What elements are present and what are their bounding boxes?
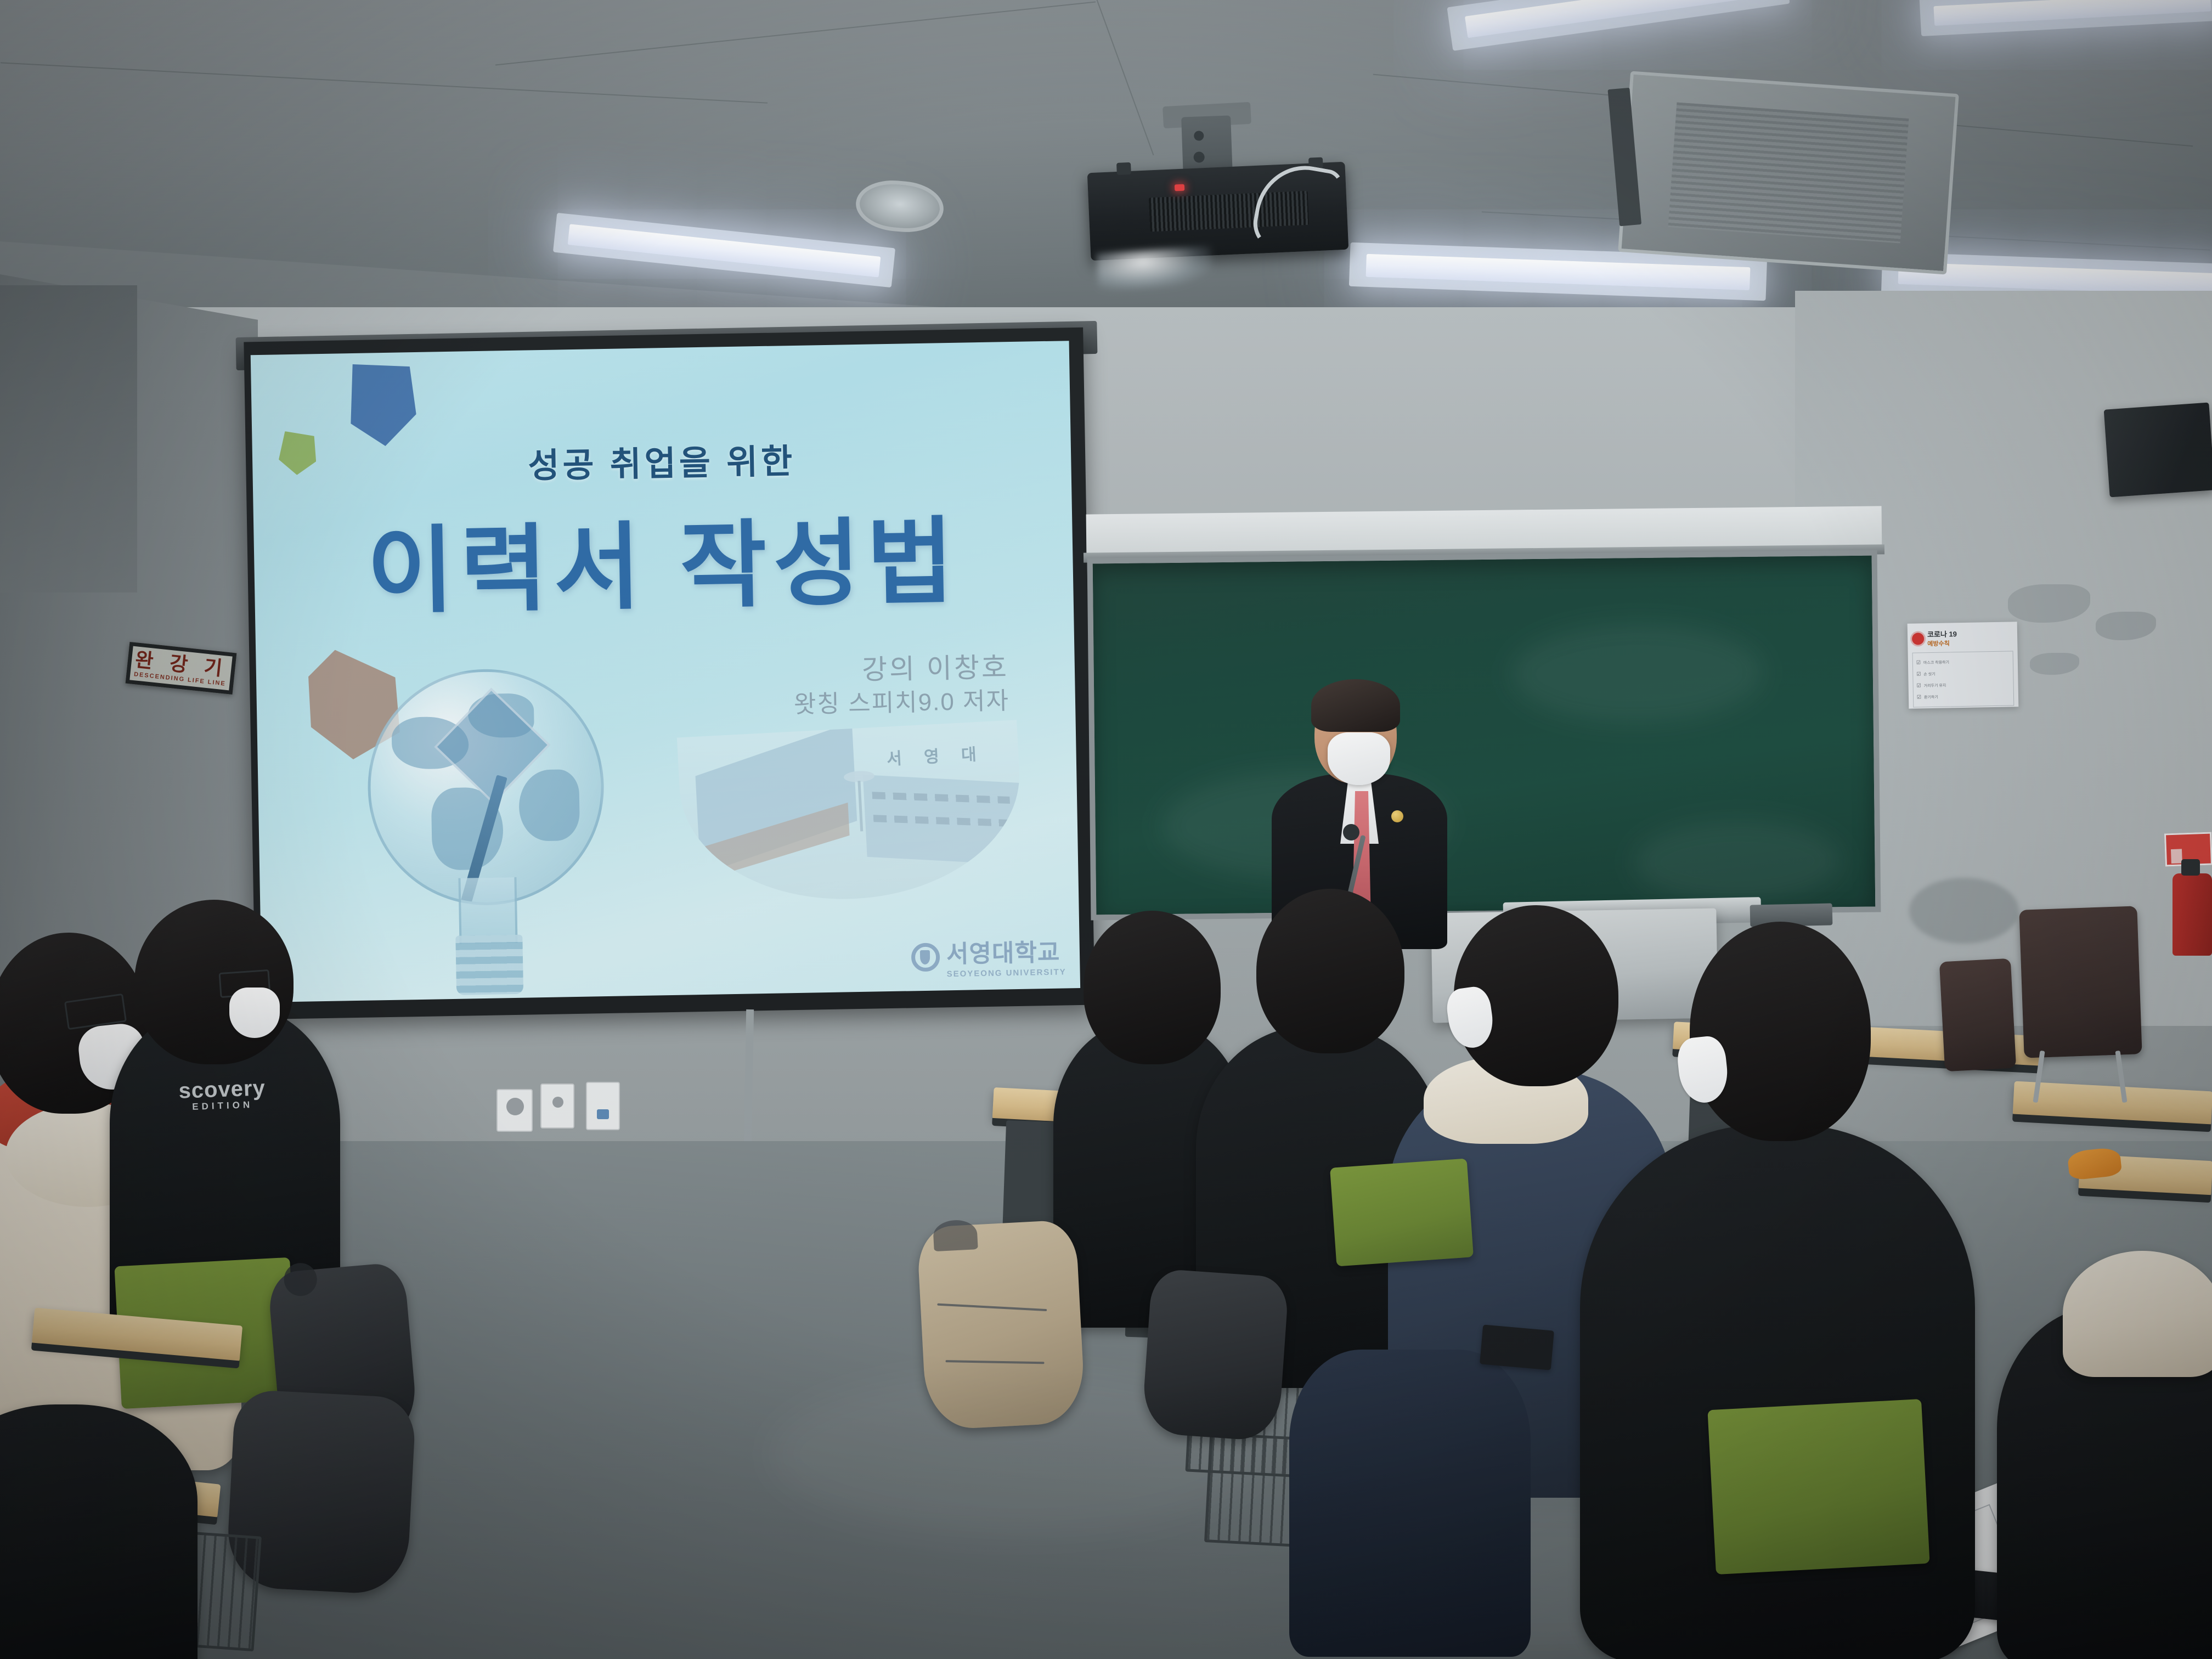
poster-rule-text: 마스크 착용하기 — [1923, 659, 1949, 665]
slide-credit-lecturer: 강의 이창호 — [793, 649, 1009, 689]
ac-vent-grille — [1668, 102, 1909, 244]
wall-scuff — [1909, 878, 2019, 944]
slide-credit-book: 왓칭 스피치9.0 저자 — [794, 685, 1010, 721]
ac-vent — [1618, 71, 1959, 274]
poster-title-accent: 예방수칙 — [1927, 639, 1957, 648]
student-shoulder-fleece — [2063, 1251, 2212, 1377]
checkbox-icon: ☑ — [1916, 659, 1921, 665]
lapel-pin — [1391, 810, 1403, 822]
presenter-face-mask — [1328, 732, 1390, 785]
smartphone[interactable] — [1480, 1324, 1554, 1370]
globe-illustration — [366, 667, 606, 907]
student-head — [1690, 922, 1871, 1141]
fire-extinguisher — [2172, 873, 2212, 956]
virus-icon — [1912, 633, 1924, 645]
poster-rule-item: ☑ 환기하기 — [1917, 693, 2010, 701]
backpack-zipper — [937, 1304, 1047, 1311]
presenter-hair — [1311, 679, 1400, 732]
wall-speaker — [2104, 402, 2212, 497]
chalk-residue — [1510, 623, 1764, 724]
slide-title-text: 이력서 작성법 — [253, 482, 1074, 634]
student-head — [1256, 889, 1404, 1053]
chalk-residue — [1633, 819, 1843, 904]
campus-building-photo: 서 영 대 — [677, 720, 1025, 907]
slide-credit-block: 강의 이창호 왓칭 스피치9.0 저자 — [793, 649, 1009, 721]
bulb-neck — [458, 877, 517, 944]
poster-rule-text: 거리두기 유지 — [1924, 682, 1946, 689]
building-sign-text: 서 영 대 — [886, 740, 986, 769]
student-body-coat — [1580, 1125, 1975, 1659]
checkbox-icon: ☑ — [1916, 671, 1921, 677]
jacket-brand-logo: scovery EDITION — [131, 1075, 313, 1114]
backpack — [917, 1220, 1086, 1431]
poster-rule-item: ☑ 거리두기 유지 — [1917, 681, 2010, 689]
student-head — [1084, 911, 1221, 1064]
poster-rules-box: ☑ 마스크 착용하기 ☑ 손 씻기 ☑ 거리두기 유지 ☑ 환기하기 — [1912, 651, 2015, 707]
poster-rule-item: ☑ 마스크 착용하기 — [1916, 658, 2010, 666]
projection-screen: 성공 취업을 위한 이력서 작성법 강의 이창호 왓칭 스피치9.0 저자 — [244, 328, 1094, 1020]
university-name-ko: 서영대학교 — [946, 932, 1066, 969]
poster-header: 코로나 19 예방수칙 — [1912, 627, 2013, 648]
wall-plate[interactable] — [540, 1084, 574, 1128]
slide-decor-blue-polygon — [344, 363, 417, 447]
checkbox-icon: ☑ — [1917, 682, 1921, 689]
poster-rule-text: 손 씻기 — [1923, 671, 1935, 676]
poster-rule-text: 환기하기 — [1924, 694, 1938, 699]
backpack-zipper — [946, 1360, 1045, 1364]
visitor-chair — [1939, 958, 2016, 1072]
face-mask — [229, 988, 280, 1038]
university-name-en: SEOYEONG UNIVERSITY — [946, 967, 1066, 979]
lightbulb-globe-graphic — [338, 656, 652, 1001]
bulb-screw-base — [455, 935, 523, 995]
slide-surface: 성공 취업을 위한 이력서 작성법 강의 이창호 왓칭 스피치9.0 저자 — [251, 341, 1080, 1002]
blackboard — [1087, 550, 1881, 920]
projector-foot — [1116, 162, 1131, 175]
student-body-dark — [0, 1404, 198, 1659]
classroom-chair — [1707, 1399, 1929, 1575]
checkbox-icon: ☑ — [1917, 694, 1921, 700]
poster-title-top: 코로나 19 — [1927, 628, 1957, 639]
backpack — [1141, 1268, 1289, 1442]
data-port-plate[interactable] — [586, 1082, 620, 1130]
student-legs — [1289, 1350, 1531, 1657]
visitor-chair — [2019, 906, 2142, 1058]
power-outlet[interactable] — [496, 1089, 533, 1132]
projector-light-beam — [1096, 246, 1214, 292]
jacket-brand-text: scovery — [178, 1076, 266, 1103]
network-port — [597, 1109, 609, 1119]
outlet-socket — [506, 1098, 524, 1115]
projector-power-led — [1175, 184, 1185, 191]
left-wall-upper — [0, 285, 137, 592]
classroom-chair — [1330, 1158, 1474, 1266]
university-logo: 서영대학교 SEOYEONG UNIVERSITY — [911, 932, 1066, 979]
microphone-head — [1343, 824, 1359, 840]
poster-rule-item: ☑ 손 씻기 — [1916, 670, 2010, 678]
continent-shape — [518, 769, 580, 842]
outlet-socket — [552, 1097, 563, 1108]
classroom-photo: 성공 취업을 위한 이력서 작성법 강의 이창호 왓칭 스피치9.0 저자 — [0, 0, 2212, 1659]
covid-notice-poster: 코로나 19 예방수칙 ☑ 마스크 착용하기 ☑ 손 씻기 ☑ 거리두기 유지 … — [1908, 622, 2019, 708]
university-crest-icon — [911, 943, 940, 972]
